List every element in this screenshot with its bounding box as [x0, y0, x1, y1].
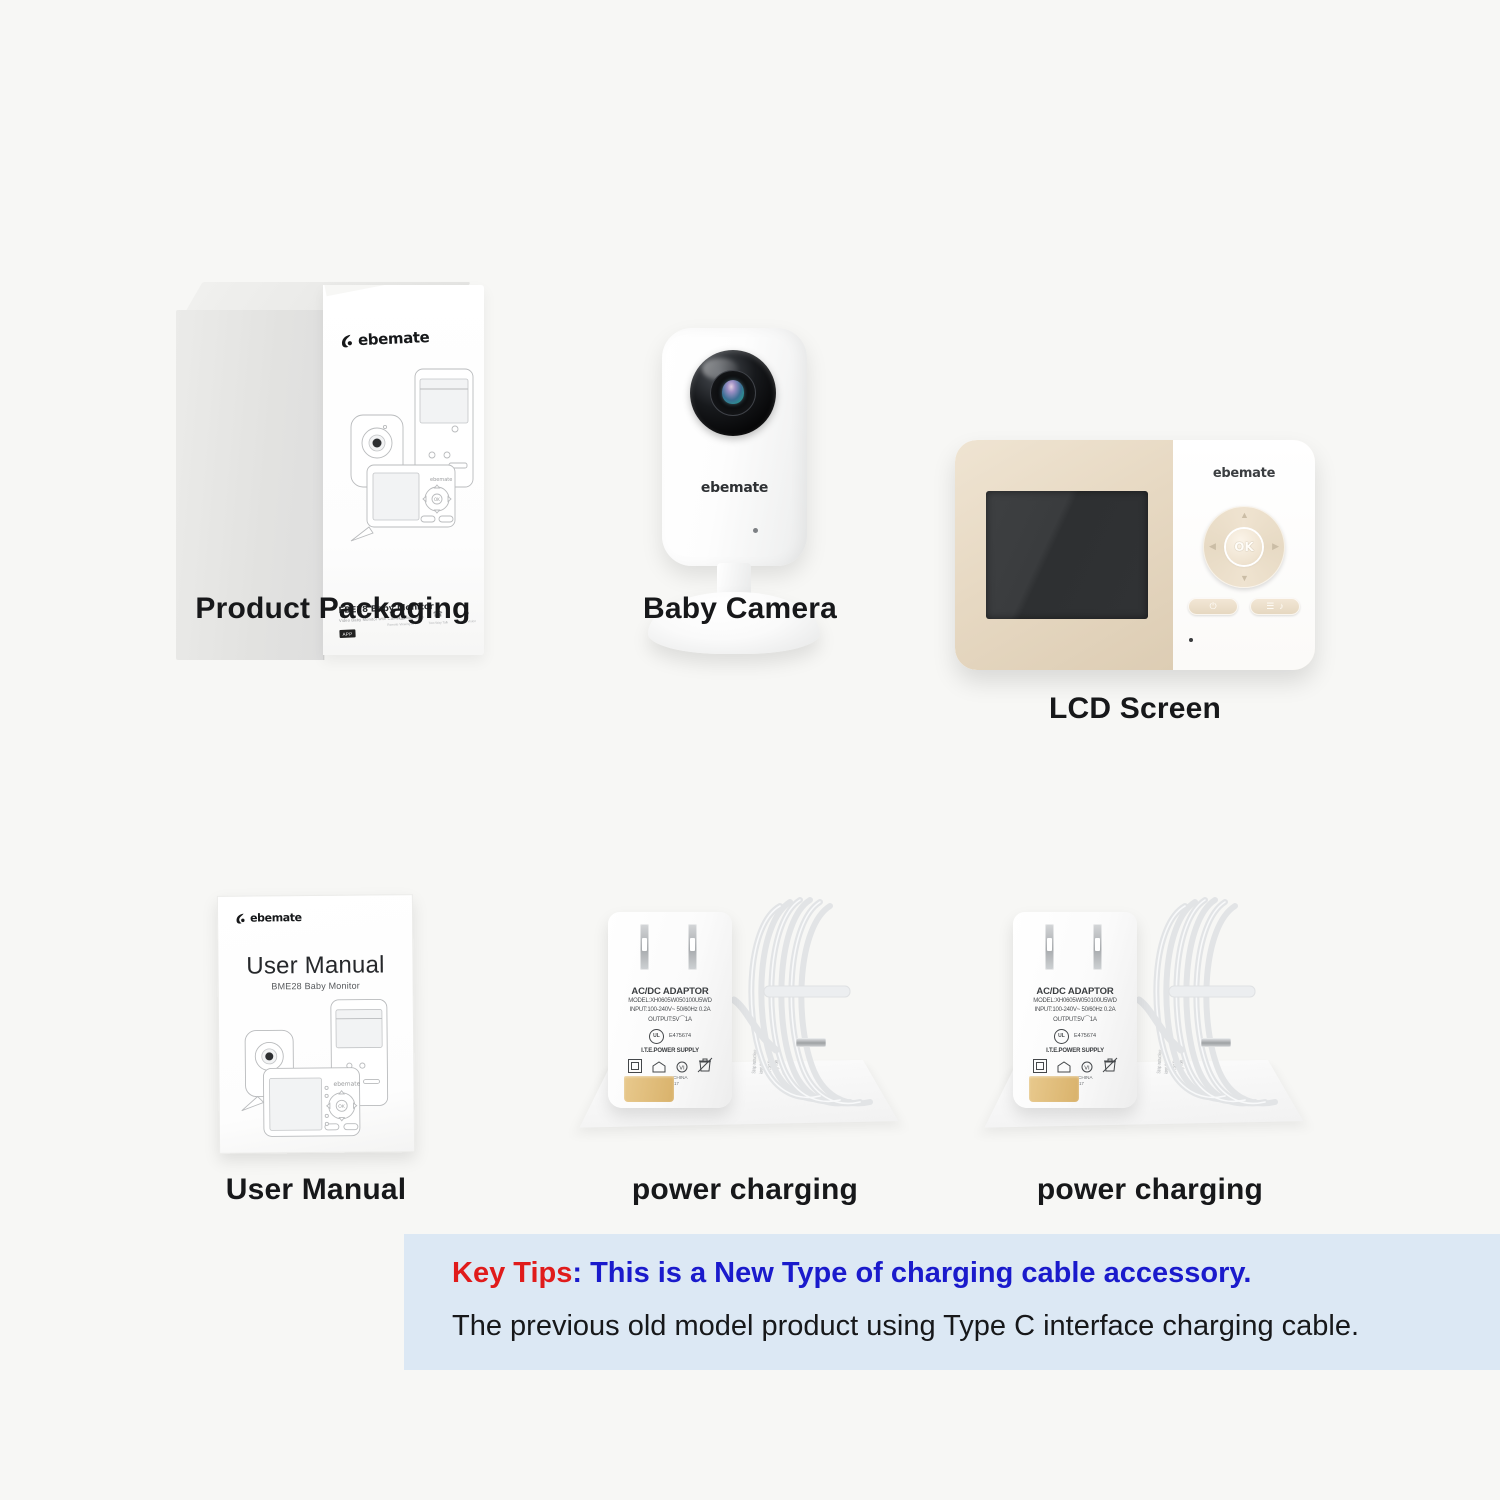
product-packaging-cell: ebemate	[168, 282, 498, 672]
menu-icon: ☰	[1266, 602, 1274, 611]
camera-microphone-hole	[753, 528, 758, 533]
caption-baby-camera: Baby Camera	[620, 592, 860, 626]
monitor-control-panel: ebemate ▲ ▼ ◀ ▶ OK ⏻ ☰ ♪	[1173, 440, 1315, 670]
svg-text:VI: VI	[679, 1065, 685, 1071]
camera-lens-ring	[710, 370, 756, 416]
adapter-gold-contact	[1029, 1076, 1079, 1102]
weee-bin-icon	[1102, 1057, 1118, 1073]
packaging-badge: APP	[339, 629, 355, 637]
efficiency-icon: VI	[676, 1061, 688, 1073]
caption-product-packaging: Product Packaging	[168, 592, 498, 626]
packaging-brand-text: ebemate	[358, 328, 430, 349]
adapter-brick-2: AC/DC ADAPTOR MODEL:XH0605W050100U5WD IN…	[1013, 912, 1137, 1108]
dpad-right-icon[interactable]: ▶	[1272, 542, 1279, 551]
class2-icon	[1033, 1059, 1047, 1073]
adapter-cert-number: E475674	[1074, 1033, 1096, 1039]
adapter-certification-row: UL E475674	[618, 1029, 722, 1044]
manual-subtitle: BME28 Baby Monitor	[219, 980, 413, 992]
lcd-screen-cell: ebemate ▲ ▼ ◀ ▶ OK ⏻ ☰ ♪	[955, 440, 1315, 670]
adapter-symbol-row: VI	[618, 1057, 722, 1073]
music-icon: ♪	[1279, 602, 1284, 611]
power-charging-cell-1: Strap instructions:keep this cordTo cord…	[600, 890, 890, 1155]
monitor-bezel	[955, 440, 1173, 670]
adapter-input: INPUT:100-240V~ 50/60Hz 0.2A	[1023, 1006, 1127, 1015]
monitor-dpad[interactable]: ▲ ▼ ◀ ▶ OK	[1203, 506, 1285, 588]
svg-text:OK: OK	[434, 497, 440, 502]
key-tips-banner: Key Tips: This is a New Type of charging…	[404, 1234, 1500, 1370]
packaging-product-illustration: ebemate OK	[333, 363, 481, 593]
monitor-body: ebemate ▲ ▼ ◀ ▶ OK ⏻ ☰ ♪	[955, 440, 1315, 670]
ebemate-leaf-icon	[235, 912, 247, 924]
adapter-cable-coil	[728, 890, 890, 1140]
adapter-psu-class: I.T.E.POWER SUPPLY	[1023, 1048, 1127, 1054]
caption-power-charging-2: power charging	[1005, 1173, 1295, 1207]
adapter-title: AC/DC ADAPTOR	[618, 986, 722, 997]
adapter-psu-class: I.T.E.POWER SUPPLY	[618, 1048, 722, 1054]
prong-right	[1093, 924, 1102, 970]
power-icon: ⏻	[1209, 602, 1216, 611]
adapter-label-1: AC/DC ADAPTOR MODEL:XH0605W050100U5WD IN…	[618, 986, 722, 1086]
key-tips-label: Key Tips	[452, 1257, 572, 1289]
baby-camera-cell: ebemate Baby Camera	[620, 320, 860, 680]
power-charging-cell-2: Strap instructions:keep this cordTo cord…	[1005, 890, 1295, 1155]
adapter-output: OUTPUT:5V⏜1A	[618, 1016, 722, 1025]
adapter-model: MODEL:XH0605W050100U5WD	[1023, 997, 1127, 1006]
key-tips-line-2: The previous old model product using Typ…	[452, 1310, 1359, 1343]
home-use-icon	[1056, 1061, 1072, 1073]
svg-text:ebemate: ebemate	[333, 1081, 360, 1088]
adapter-cert-number: E475674	[669, 1033, 691, 1039]
manual-brand-logo: ebemate	[235, 911, 302, 925]
class2-icon	[628, 1059, 642, 1073]
ul-listed-icon: UL	[649, 1029, 664, 1044]
adapter-symbol-row: VI	[1023, 1057, 1127, 1073]
camera-lens-housing	[690, 350, 776, 436]
adapter-title: AC/DC ADAPTOR	[1023, 986, 1127, 997]
monitor-button-row: ⏻ ☰ ♪	[1188, 598, 1300, 615]
ul-listed-icon: UL	[1054, 1029, 1069, 1044]
adapter-dc-plug-tip	[796, 1038, 826, 1047]
prong-right	[688, 924, 697, 970]
ebemate-leaf-icon	[340, 333, 356, 349]
dpad-up-icon[interactable]: ▲	[1240, 511, 1249, 520]
svg-text:VI: VI	[1084, 1065, 1090, 1071]
adapter-dc-plug-tip	[1201, 1038, 1231, 1047]
adapter-label-2: AC/DC ADAPTOR MODEL:XH0605W050100U5WD IN…	[1023, 986, 1127, 1086]
home-use-icon	[651, 1061, 667, 1073]
camera-body: ebemate	[662, 328, 807, 566]
key-tips-colon: :	[572, 1257, 590, 1289]
monitor-status-led	[1189, 638, 1193, 642]
adapter-output: OUTPUT:5V⏜1A	[1023, 1016, 1127, 1025]
svg-text:ebemate: ebemate	[430, 477, 452, 483]
dpad-down-icon[interactable]: ▼	[1240, 574, 1249, 583]
monitor-power-button[interactable]: ⏻	[1188, 598, 1238, 615]
caption-user-manual: User Manual	[218, 1173, 414, 1207]
prong-left	[1045, 924, 1054, 970]
caption-power-charging-1: power charging	[600, 1173, 890, 1207]
prong-left	[640, 924, 649, 970]
adapter-certification-row: UL E475674	[1023, 1029, 1127, 1044]
key-tips-message: This is a New Type of charging cable acc…	[590, 1257, 1251, 1289]
manual-product-illustration: ebemate OK	[231, 995, 404, 1146]
adapter-cable-coil	[1133, 890, 1295, 1140]
key-tips-line-1: Key Tips: This is a New Type of charging…	[452, 1257, 1251, 1290]
monitor-menu-button[interactable]: ☰ ♪	[1250, 598, 1300, 615]
monitor-brand-text: ebemate	[1173, 466, 1315, 481]
adapter-prongs	[1031, 924, 1119, 976]
svg-text:OK: OK	[338, 1104, 346, 1110]
dpad-left-icon[interactable]: ◀	[1209, 542, 1216, 551]
user-manual-cell: ebemate User Manual BME28 Baby Monitor	[218, 895, 414, 1153]
packaging-brand-logo: ebemate	[340, 328, 430, 350]
efficiency-icon: VI	[1081, 1061, 1093, 1073]
adapter-prongs	[626, 924, 714, 976]
manual-cover: ebemate User Manual BME28 Baby Monitor	[217, 894, 415, 1154]
dpad-ok-button[interactable]: OK	[1226, 529, 1262, 565]
manual-title: User Manual	[218, 951, 412, 981]
camera-brand-text: ebemate	[662, 480, 807, 496]
weee-bin-icon	[697, 1057, 713, 1073]
adapter-input: INPUT:100-240V~ 50/60Hz 0.2A	[618, 1006, 722, 1015]
adapter-brick-1: AC/DC ADAPTOR MODEL:XH0605W050100U5WD IN…	[608, 912, 732, 1108]
product-gallery: ebemate	[0, 0, 1500, 1500]
adapter-model: MODEL:XH0605W050100U5WD	[618, 997, 722, 1006]
manual-brand-text: ebemate	[250, 911, 302, 924]
monitor-display	[986, 491, 1148, 619]
caption-lcd-screen: LCD Screen	[955, 692, 1315, 726]
adapter-gold-contact	[624, 1076, 674, 1102]
camera-lens-glass	[722, 380, 744, 404]
